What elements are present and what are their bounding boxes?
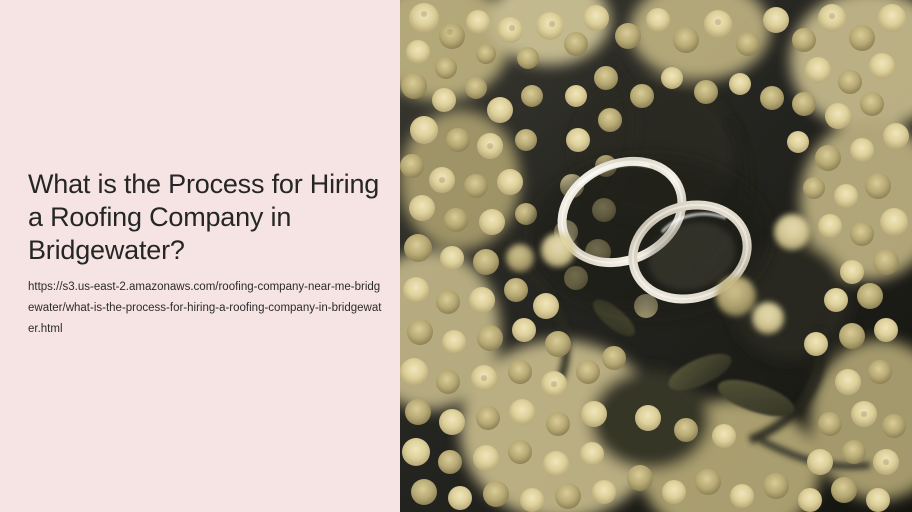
slide-container: What is the Process for Hiring a Roofing… [0,0,912,512]
page-title: What is the Process for Hiring a Roofing… [28,168,388,267]
rings-on-flowers-photo [400,0,912,512]
image-pane [400,0,912,512]
text-pane: What is the Process for Hiring a Roofing… [0,0,400,512]
source-url: https://s3.us-east-2.amazonaws.com/roofi… [28,277,384,340]
